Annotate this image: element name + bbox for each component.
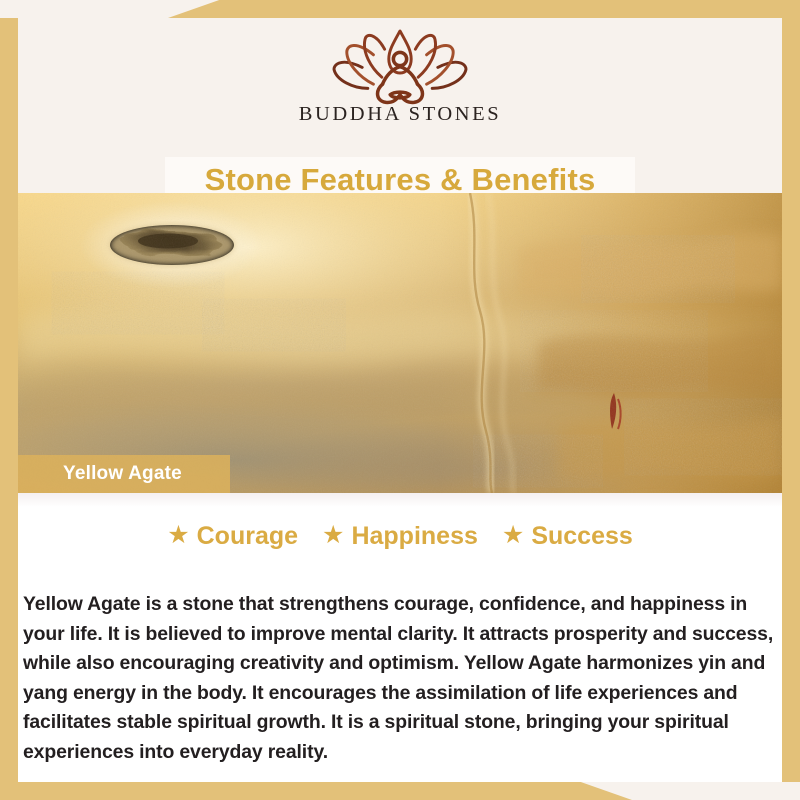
brand-name: BUDDHA STONES (299, 103, 502, 126)
gold-frame-left (0, 18, 18, 800)
content-panel: ★ Courage ★ Happiness ★ Success Yellow A… (18, 493, 782, 782)
benefit-label: Courage (197, 522, 298, 551)
benefit-item: ★ Success (502, 522, 633, 551)
infographic-page: BUDDHA STONES Stone Features & Benefits (0, 0, 800, 800)
gold-frame-top (0, 0, 800, 18)
page-canvas: BUDDHA STONES Stone Features & Benefits (18, 18, 782, 782)
lotus-meditation-figure-icon (316, 24, 484, 106)
brand-header: BUDDHA STONES (18, 18, 782, 140)
benefit-item: ★ Happiness (322, 522, 478, 551)
stone-name-badge: Yellow Agate (18, 455, 230, 493)
star-icon: ★ (502, 523, 524, 548)
star-icon: ★ (322, 523, 344, 548)
benefit-label: Happiness (351, 522, 477, 551)
stone-description: Yellow Agate is a stone that strengthens… (23, 590, 779, 767)
benefits-row: ★ Courage ★ Happiness ★ Success (18, 522, 782, 551)
stone-name-label: Yellow Agate (63, 463, 182, 485)
gold-frame-right (782, 0, 800, 782)
gold-frame-bottom (0, 782, 800, 800)
panel-top-fade (18, 493, 782, 507)
star-icon: ★ (167, 523, 189, 548)
benefit-item: ★ Courage (167, 522, 298, 551)
benefit-label: Success (531, 522, 632, 551)
stone-image: Yellow Agate (18, 193, 782, 493)
